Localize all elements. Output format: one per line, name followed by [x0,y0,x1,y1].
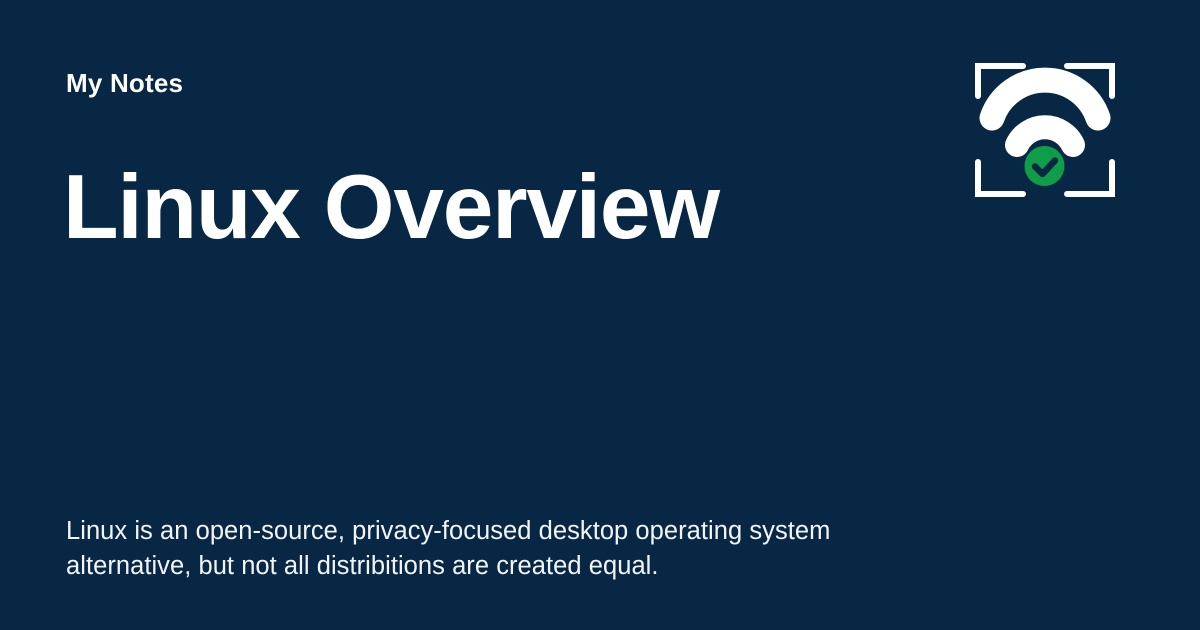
badge-circle [1025,146,1065,186]
description-line-1: Linux is an open-source, privacy-focused… [66,514,916,549]
wifi-scan-verified-icon [972,56,1118,204]
wifi-arcs [992,80,1098,145]
description-text: Linux is an open-source, privacy-focused… [66,514,916,584]
social-share-card: My Notes Linux Overview Linux is an open… [0,0,1200,630]
page-title: Linux Overview [63,160,719,256]
site-label: My Notes [66,69,183,98]
description-line-2: alternative, but not all distribitions a… [66,549,916,584]
verified-check-badge [1025,146,1065,186]
